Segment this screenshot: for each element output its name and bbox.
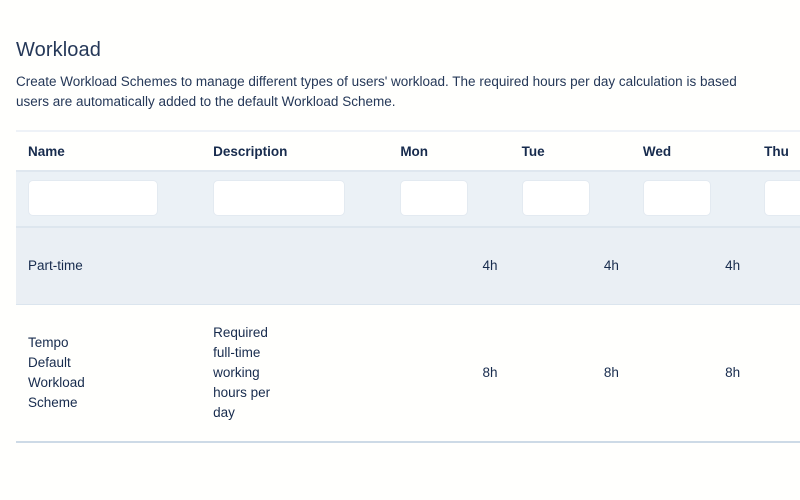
table-header-row: Name Description Mon Tue Wed Thu Fri Sat [16,131,800,171]
cell-description [201,227,388,305]
column-header-mon[interactable]: Mon [388,131,509,171]
page-title: Workload [16,38,800,62]
column-header-wed[interactable]: Wed [631,131,752,171]
cell-thu: 8h [752,305,800,443]
column-header-name[interactable]: Name [16,131,201,171]
filter-cell-thu [752,171,800,227]
cell-wed: 4h [631,227,752,305]
workload-page: Workload Create Workload Schemes to mana… [0,0,800,500]
filter-input-name[interactable] [28,180,158,216]
row-description-text: Required full-time working hours per day [213,323,281,423]
filter-input-wed[interactable] [643,180,711,216]
table-body: Part-time 4h 4h 4h 4h 4h 0h [16,171,800,442]
filter-cell-name [16,171,201,227]
filter-cell-description [201,171,388,227]
cell-wed: 8h [631,305,752,443]
filter-input-thu[interactable] [764,180,800,216]
cell-name: Part-time [16,227,201,305]
filter-input-description[interactable] [213,180,345,216]
column-header-thu[interactable]: Thu [752,131,800,171]
page-content: Workload Create Workload Schemes to mana… [0,0,800,443]
cell-tue: 4h [510,227,631,305]
cell-thu: 4h [752,227,800,305]
filter-input-tue[interactable] [522,180,590,216]
column-header-tue[interactable]: Tue [510,131,631,171]
filter-cell-mon [388,171,509,227]
cell-mon: 8h [388,305,509,443]
workload-table-container: Name Description Mon Tue Wed Thu Fri Sat [16,130,800,443]
filter-cell-tue [510,171,631,227]
row-name-text: Part-time [28,256,102,276]
cell-mon: 4h [388,227,509,305]
filter-input-mon[interactable] [400,180,468,216]
row-name-text: Tempo Default Workload Scheme [28,333,102,413]
column-header-description[interactable]: Description [201,131,388,171]
page-description: Create Workload Schemes to manage differ… [16,72,800,112]
table-row[interactable]: Tempo Default Workload Scheme Required f… [16,305,800,443]
cell-name: Tempo Default Workload Scheme [16,305,201,443]
table-filter-row [16,171,800,227]
filter-cell-wed [631,171,752,227]
cell-description: Required full-time working hours per day [201,305,388,443]
table-row[interactable]: Part-time 4h 4h 4h 4h 4h 0h [16,227,800,305]
cell-tue: 8h [510,305,631,443]
table-header: Name Description Mon Tue Wed Thu Fri Sat [16,131,800,171]
workload-table: Name Description Mon Tue Wed Thu Fri Sat [16,130,800,443]
